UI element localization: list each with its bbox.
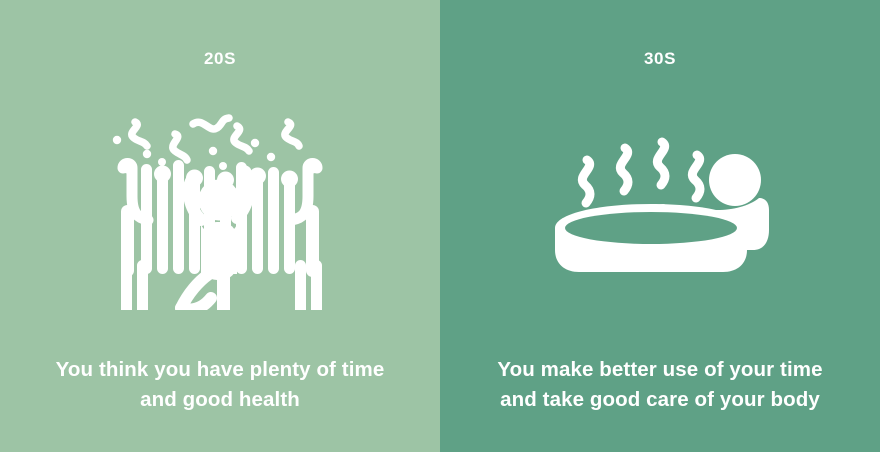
panel-twenties: 20S <box>0 0 440 452</box>
panel-caption-thirties: You make better use of your time and tak… <box>440 355 880 414</box>
caption-line: You think you have plenty of time <box>24 355 416 385</box>
panel-caption-twenties: You think you have plenty of time and go… <box>0 355 440 414</box>
hot-bath-relax-icon <box>545 120 775 300</box>
panel-heading-thirties: 30S <box>644 50 676 67</box>
caption-line: You make better use of your time <box>464 355 856 385</box>
comparison-infographic: 20S <box>0 0 880 452</box>
illustration-party-crowd <box>0 100 440 320</box>
panel-heading-twenties: 20S <box>204 50 236 67</box>
caption-line: and good health <box>24 385 416 415</box>
caption-line: and take good care of your body <box>464 385 856 415</box>
illustration-hot-bath <box>440 100 880 320</box>
panel-thirties: 30S <box>440 0 880 452</box>
party-crowd-icon <box>105 110 335 310</box>
